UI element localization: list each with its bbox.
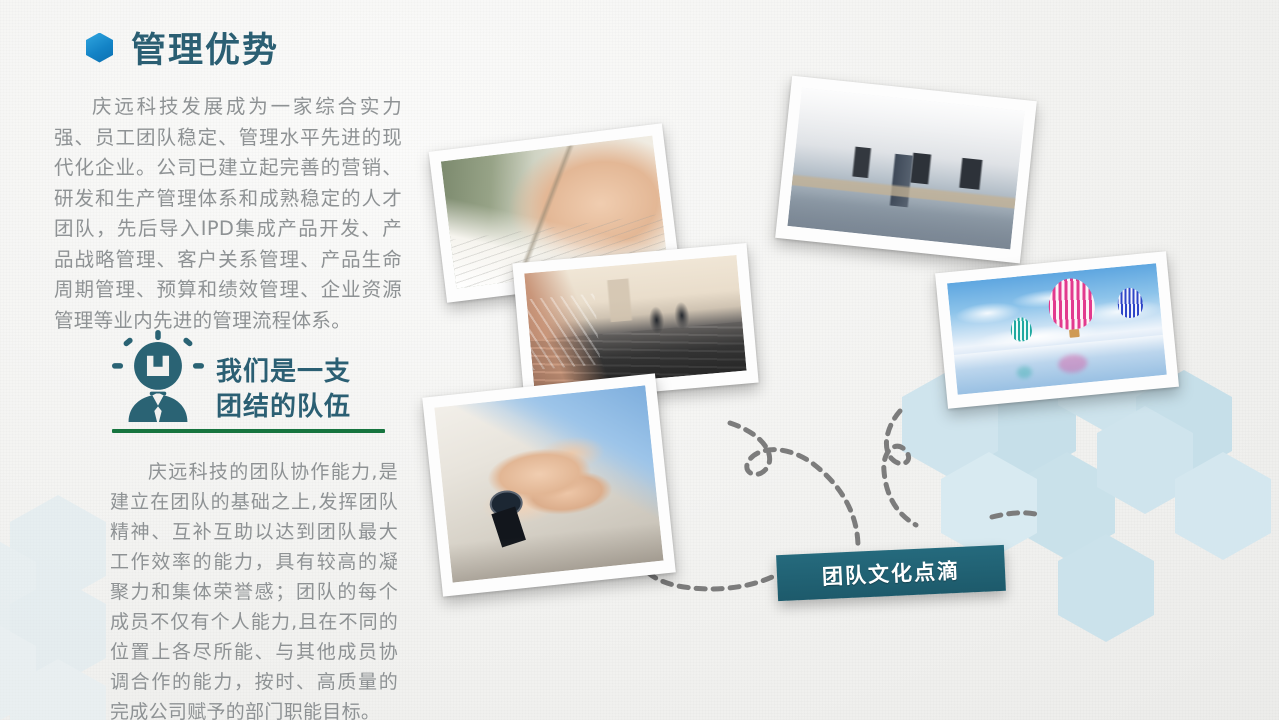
photo-hot-air-balloons[interactable] [935, 251, 1179, 409]
photo-office-lab[interactable] [775, 76, 1037, 264]
photo-image [947, 263, 1167, 395]
body-paragraph-secondary: 庆远科技的团队协作能力,是建立在团队的基础之上,发挥团队精神、互补互助以达到团队… [110, 457, 398, 720]
hexagon-shape [10, 659, 106, 720]
body-paragraph-primary: 庆远科技发展成为一家综合实力强、员工团队稳定、管理水平先进的现代化企业。公司已建… [54, 92, 402, 336]
hexagon-shape [1097, 406, 1193, 514]
team-culture-banner[interactable]: 团队文化点滴 [776, 545, 1006, 601]
photo-team-hands[interactable] [422, 373, 676, 596]
subhead-line-2: 团结的队伍 [216, 390, 351, 425]
photo-image [434, 385, 663, 582]
hexagon-shape [10, 495, 106, 603]
lightbulb-head-person-icon [112, 330, 204, 422]
hexagon-shape [0, 619, 36, 720]
banner-label: 团队文化点滴 [821, 555, 960, 591]
hexagon-shape [1019, 452, 1115, 560]
page-title: 管理优势 [131, 22, 279, 73]
page-title-row: 管理优势 [86, 22, 279, 73]
hexagon-field-right [880, 370, 1279, 720]
photo-image [524, 255, 746, 389]
hexagon-shape [0, 535, 36, 643]
hexagon-shape [1175, 452, 1271, 560]
photo-image [787, 88, 1024, 250]
subhead-block: 我们是一支 团结的队伍 [216, 355, 351, 425]
hexagon-shape [10, 577, 106, 685]
subhead-line-1: 我们是一支 [216, 355, 351, 390]
hexagon-shape [1058, 534, 1154, 642]
hexagon-icon [86, 33, 113, 63]
hexagon-shape [941, 452, 1037, 560]
slide-canvas: 管理优势 庆远科技发展成为一家综合实力强、员工团队稳定、管理水平先进的现代化企业… [0, 0, 1279, 720]
subhead-underline [112, 429, 385, 433]
